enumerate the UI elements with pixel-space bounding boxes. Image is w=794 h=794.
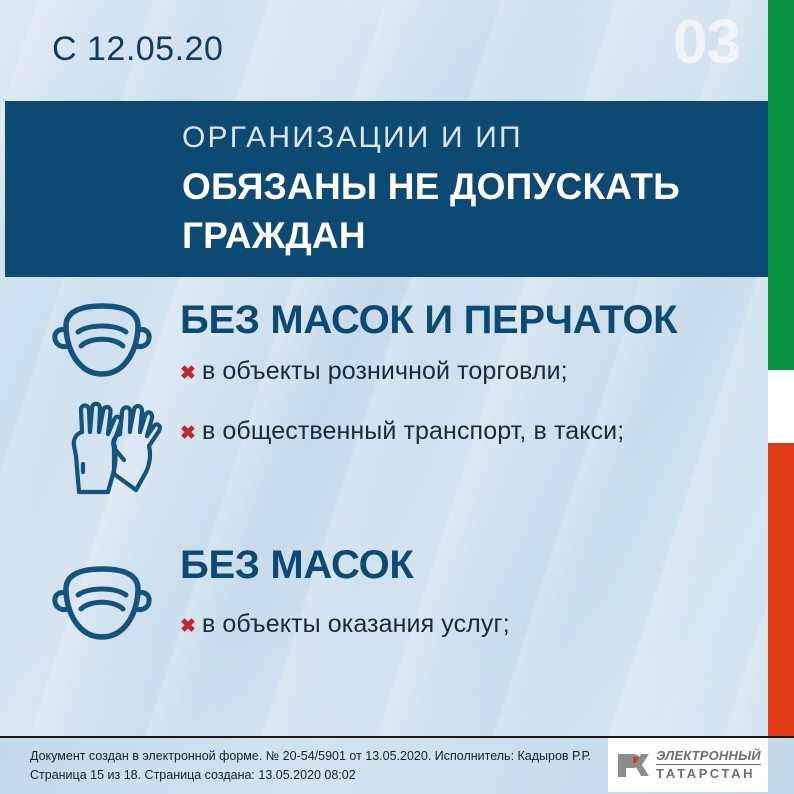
mask-icon — [46, 300, 158, 386]
logo-line-2: ТАТАРСТАН — [656, 765, 761, 781]
logo-mark-icon — [616, 750, 650, 780]
block-2-icon-group — [46, 563, 166, 649]
block-1-body: БЕЗ МАСОК И ПЕРЧАТОК ✖ в объекты розничн… — [180, 300, 764, 462]
cross-bullet-icon: ✖ — [180, 617, 202, 636]
list-item: ✖ в объекты оказания услуг; — [180, 609, 764, 639]
electronic-tatarstan-logo: ЭЛЕКТРОННЫЙ ТАТАРСТАН — [608, 738, 768, 792]
gloves-icon — [50, 394, 168, 504]
tatarstan-flag-stripe — [768, 0, 794, 738]
poster-root: C 12.05.20 03 ОРГАНИЗАЦИИ И ИП ОБЯЗАНЫ Н… — [0, 0, 794, 794]
footer-metadata: Документ создан в электронной форме. № 2… — [30, 747, 591, 786]
document-footer: Документ создан в электронной форме. № 2… — [0, 736, 794, 794]
block-1-bullet-1: в объекты розничной торговли; — [202, 356, 568, 386]
block-1-icon-group — [46, 300, 166, 504]
block-1-bullet-2: в общественный транспорт, в такси; — [202, 416, 624, 446]
footer-line-2: Страница 15 из 18. Страница создана: 13.… — [30, 766, 591, 785]
list-item: ✖ в объекты розничной торговли; — [180, 356, 764, 386]
banner-title: ОБЯЗАНЫ НЕ ДОПУСКАТЬ ГРАЖДАН — [182, 163, 762, 261]
mask-icon — [46, 563, 158, 649]
cross-bullet-icon: ✖ — [180, 364, 202, 383]
header: C 12.05.20 03 — [0, 0, 768, 101]
logo-wordmark: ЭЛЕКТРОННЫЙ ТАТАРСТАН — [656, 749, 761, 780]
flag-stripe-red — [768, 443, 794, 738]
cross-bullet-icon: ✖ — [180, 424, 202, 443]
footer-line-1: Документ создан в электронной форме. № 2… — [30, 747, 591, 766]
slide-number-badge: 03 — [673, 12, 740, 74]
block-2-body: БЕЗ МАСОК ✖ в объекты оказания услуг; — [180, 545, 764, 655]
list-item: ✖ в общественный транспорт, в такси; — [180, 416, 764, 446]
banner: ОРГАНИЗАЦИИ И ИП ОБЯЗАНЫ НЕ ДОПУСКАТЬ ГР… — [5, 101, 768, 277]
flag-stripe-green — [768, 0, 794, 370]
logo-line-1: ЭЛЕКТРОННЫЙ — [656, 749, 761, 765]
banner-subtitle: ОРГАНИЗАЦИИ И ИП — [182, 121, 523, 155]
block-2-bullet-1: в объекты оказания услуг; — [202, 609, 510, 639]
block-1-heading: БЕЗ МАСОК И ПЕРЧАТОК — [180, 300, 764, 340]
flag-stripe-white — [768, 370, 794, 443]
block-2-heading: БЕЗ МАСОК — [180, 545, 764, 585]
header-date-label: C 12.05.20 — [52, 30, 223, 69]
